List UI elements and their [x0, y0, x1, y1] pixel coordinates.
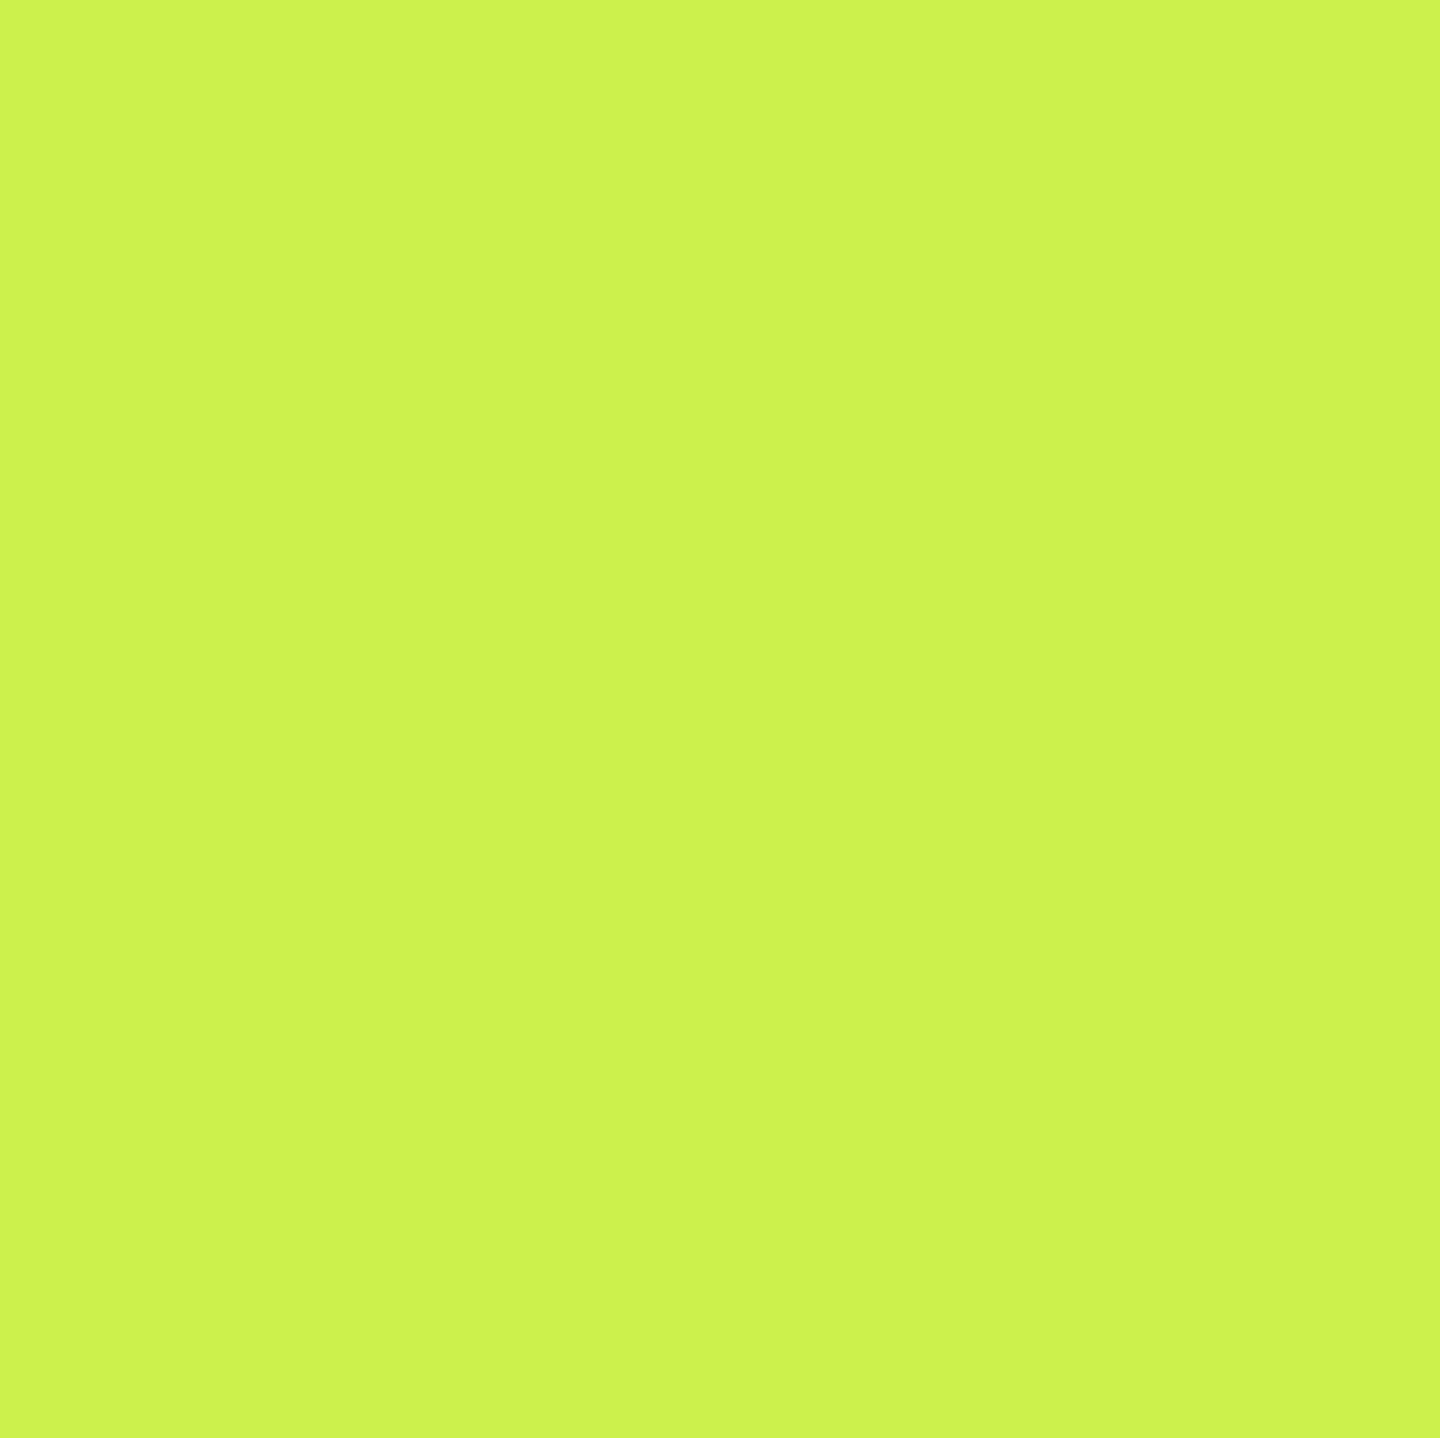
whiteboard-line-2: залог здоровья».: [225, 258, 422, 284]
student-figure: [820, 850, 876, 910]
glasses-icon: [334, 1290, 408, 1312]
chalkboard-edge: [0, 128, 66, 461]
student-figure: [1096, 872, 1148, 928]
bulletin-document: [203, 1009, 251, 1065]
ceiling-light: [400, 934, 610, 948]
student-figure: [1030, 860, 1084, 918]
desk-leg: [128, 662, 135, 792]
student-figure: [1186, 876, 1240, 934]
bulletin-document: [203, 1069, 251, 1107]
books: [258, 1103, 314, 1121]
student-hair: [90, 1128, 144, 1158]
student-foreground-body: [1110, 1140, 1410, 1438]
slide-title-line-1: Правильное питание –: [462, 89, 1362, 282]
whiteboard-sensor-icon: [101, 83, 110, 92]
glasses-icon: [162, 1238, 230, 1258]
student-hair: [836, 1182, 914, 1252]
slide-title: Правильное питание –залог здоровья».: [446, 82, 1384, 398]
student-hair: [316, 1160, 374, 1194]
student-hair: [756, 1278, 870, 1346]
slide-title-line-2: залог здоровья».: [561, 284, 1274, 387]
student-collar: [790, 1400, 846, 1438]
bulletin-document: [143, 1065, 193, 1103]
student-hair: [314, 1230, 420, 1290]
collage-canvas: «Правильное питание –залог здоровья». IN…: [0, 0, 1440, 1438]
student-foreground-head: [1176, 990, 1334, 1162]
caption-class-label: 8б класс: [62, 1321, 521, 1416]
books: [260, 1057, 322, 1075]
student-head: [8, 452, 82, 536]
student-hair: [746, 1158, 808, 1196]
poster-periodic-table: [1212, 578, 1376, 708]
student-figure: [1084, 988, 1146, 1060]
student-figure: [918, 880, 972, 936]
poster-info-board: [1058, 598, 1154, 712]
student-body: [572, 1172, 672, 1288]
whiteboard-brand-label: INTERACTIVE: [131, 68, 177, 75]
student-figure: [952, 994, 1070, 1144]
student-lower-body: [524, 560, 634, 730]
student-hair: [590, 1108, 648, 1144]
student-figure: [1252, 898, 1308, 960]
plant: [1136, 780, 1222, 858]
student-figure: [0, 508, 112, 768]
student-hair: [446, 1100, 504, 1144]
student-hair: [8, 1112, 64, 1144]
student-hair: [144, 1184, 242, 1240]
student-hair: [378, 1128, 432, 1160]
student-head: [524, 418, 586, 476]
books: [386, 1102, 448, 1122]
whiteboard-text: «Правильное питание –залог здоровья».: [167, 220, 481, 291]
student-figure: [1326, 878, 1380, 936]
bag-beige: [84, 790, 152, 882]
student-hair: [520, 1138, 576, 1170]
whiteboard-line-1: «Правильное питание –: [185, 225, 463, 252]
whiteboard-pen-tray: [79, 320, 99, 394]
books: [390, 1054, 450, 1074]
poster-dark-space: [1154, 592, 1206, 668]
books: [510, 1050, 606, 1072]
bulletin-document: [87, 1061, 125, 1109]
backpack: [146, 752, 242, 884]
desk-leg: [248, 560, 255, 672]
